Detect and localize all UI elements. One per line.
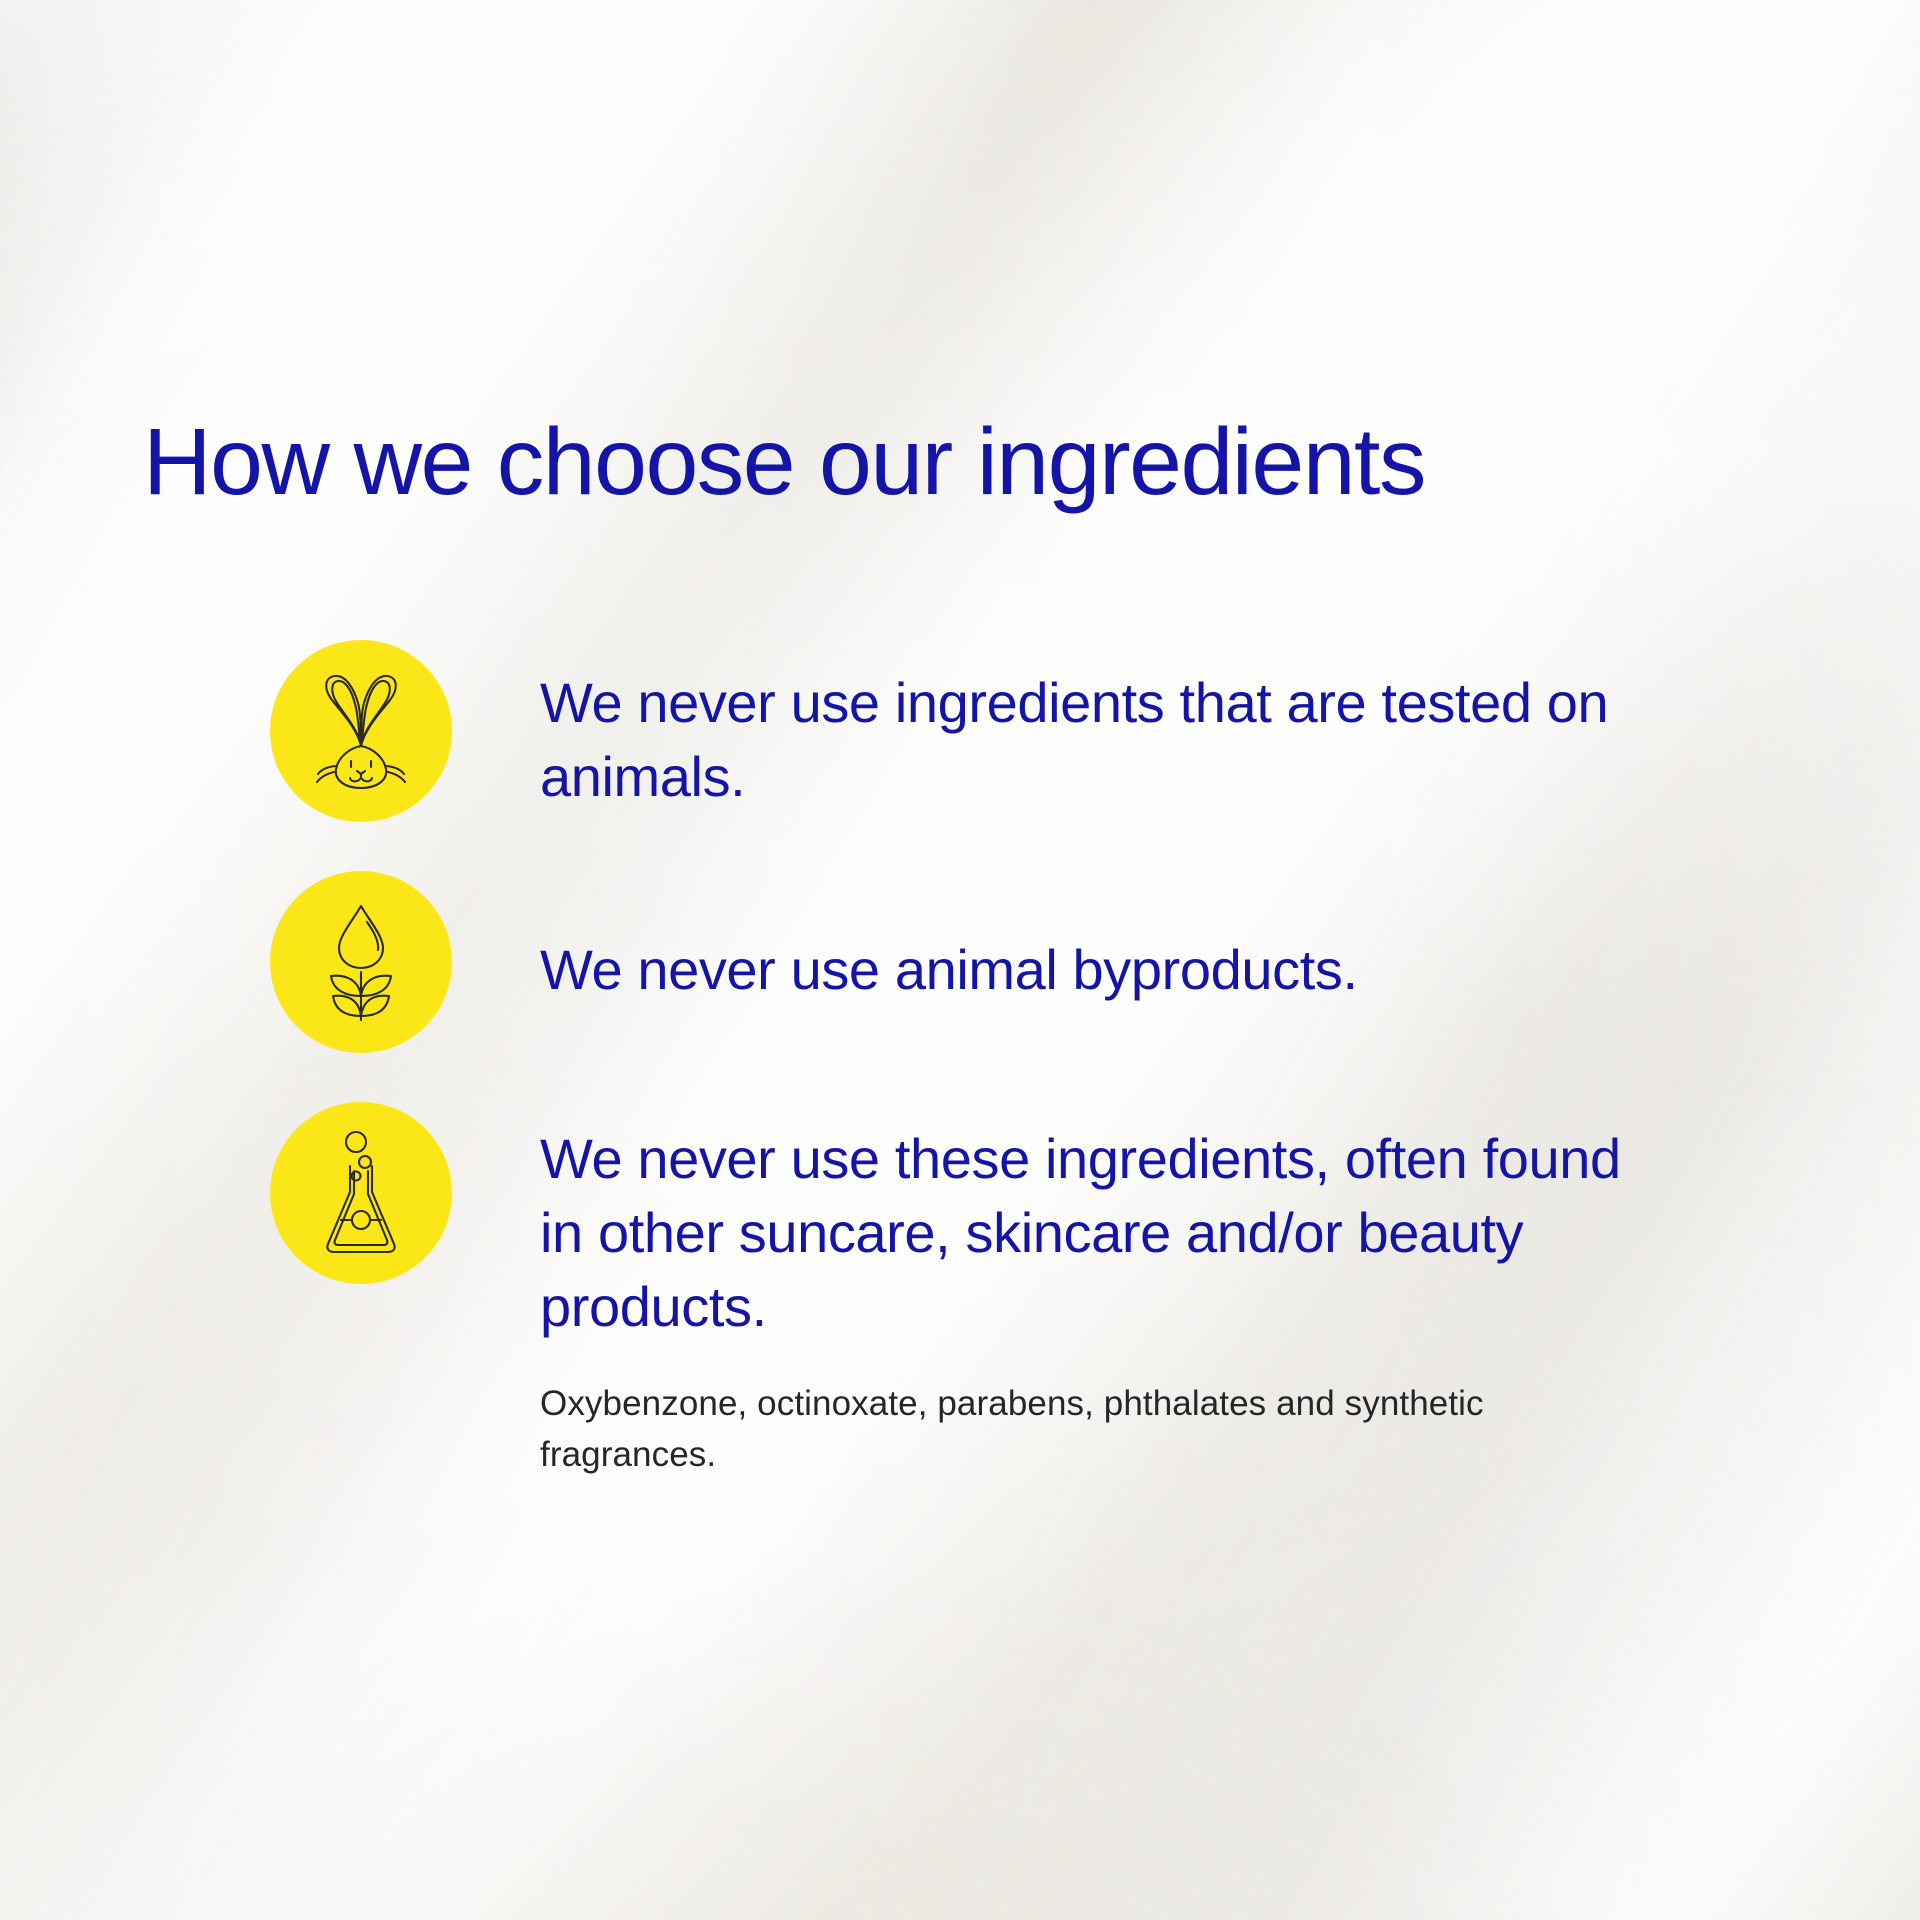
droplet-plant-icon [270,871,452,1053]
flask-bubbles-icon [270,1102,452,1284]
page-title: How we choose our ingredients [143,415,1425,510]
ingredient-promise-poster: How we choose our ingredients [0,0,1920,1920]
bunny-heart-ears-icon [270,640,452,822]
list-item: We never use animal byproducts. [270,871,1670,1053]
list-item: We never use ingredients that are tested… [270,640,1670,822]
list-item-note: Oxybenzone, octinoxate, parabens, phthal… [540,1378,1600,1480]
list-item: We never use these ingredients, often fo… [270,1102,1670,1480]
list-item-text-wrap: We never use these ingredients, often fo… [540,1102,1670,1480]
list-item-text-wrap: We never use ingredients that are tested… [540,640,1670,814]
list-item-label: We never use these ingredients, often fo… [540,1122,1670,1344]
ingredient-promise-list: We never use ingredients that are tested… [270,640,1670,1480]
list-item-label: We never use animal byproducts. [540,933,1358,1007]
list-item-label: We never use ingredients that are tested… [540,666,1670,814]
list-item-text-wrap: We never use animal byproducts. [540,871,1358,1007]
